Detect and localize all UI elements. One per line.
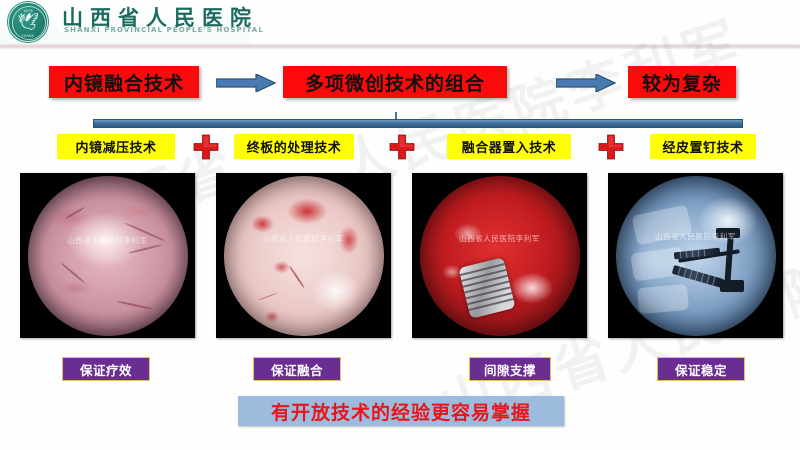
caption-stability: 保证稳定 <box>657 357 745 381</box>
fixation-rod <box>678 249 740 263</box>
dove-icon: 🕊 <box>17 14 39 31</box>
technique-box-cage: 融合器置入技术 <box>447 134 571 159</box>
technique-box-percutaneous-screw: 经皮置钉技术 <box>650 134 756 159</box>
technique-box-endplate: 终板的处理技术 <box>234 134 354 159</box>
pedicle-screw <box>671 265 723 288</box>
interbody-cage-implant <box>458 257 515 319</box>
right-arrow-icon <box>556 74 616 96</box>
fluoroscopy-screw-fixation-view: 山西省人民医院李利军 <box>608 173 783 338</box>
right-arrow-icon <box>216 74 276 96</box>
screw-head <box>720 280 744 292</box>
bracket-bar <box>93 119 743 128</box>
flow-box-complexity: 较为复杂 <box>628 66 736 98</box>
red-plus-icon <box>388 133 416 161</box>
red-plus-icon <box>192 133 220 161</box>
flow-box-primary: 内镜融合技术 <box>49 66 199 98</box>
logo-circle-icon: 1878 🕊 SHANXI <box>8 2 48 42</box>
header-divider <box>0 44 800 49</box>
tissue-texture <box>420 176 580 336</box>
tissue-texture <box>224 176 384 336</box>
hospital-logo: 1878 🕊 SHANXI <box>4 1 52 43</box>
pedicle-screw <box>673 247 719 259</box>
hospital-name-en: SHANXI PROVINCIAL PEOPLE'S HOSPITAL <box>64 26 264 34</box>
flow-box-combination: 多项微创技术的组合 <box>283 66 507 98</box>
caption-fusion: 保证融合 <box>253 357 341 381</box>
image-watermark: 山西省人民医院李利军 <box>412 233 587 244</box>
caption-disc-space-support: 间隙支撑 <box>469 357 551 381</box>
presentation-slide: 山西省 人民医院李利军 山西省人民医院 1878 🕊 SHANXI 山西省人民医… <box>0 0 800 450</box>
tissue-texture <box>28 176 188 336</box>
slide-header: 1878 🕊 SHANXI 山西省人民医院 SHANXI PROVINCIAL … <box>0 0 800 44</box>
caption-efficacy: 保证疗效 <box>62 357 150 381</box>
red-plus-icon <box>597 133 625 161</box>
image-watermark: 山西省人民医院李利军 <box>608 231 783 242</box>
scope-circle <box>28 176 188 336</box>
scope-circle <box>616 176 776 336</box>
image-watermark: 山西省人民医院李利军 <box>216 233 391 244</box>
cage-insertion-view: 山西省人民医院李利军 <box>412 173 587 338</box>
endoscopic-decompression-view: 山西省人民医院李利军 <box>20 173 195 338</box>
fluoroscopy-texture <box>616 176 776 336</box>
scope-circle <box>420 176 580 336</box>
image-watermark: 山西省人民医院李利军 <box>20 235 195 246</box>
scope-circle <box>224 176 384 336</box>
endplate-preparation-view: 山西省人民医院李利军 <box>216 173 391 338</box>
logo-arc-text: SHANXI <box>22 34 35 38</box>
technique-box-decompression: 内镜减压技术 <box>57 134 175 159</box>
conclusion-banner: 有开放技术的经验更容易掌握 <box>238 396 564 426</box>
